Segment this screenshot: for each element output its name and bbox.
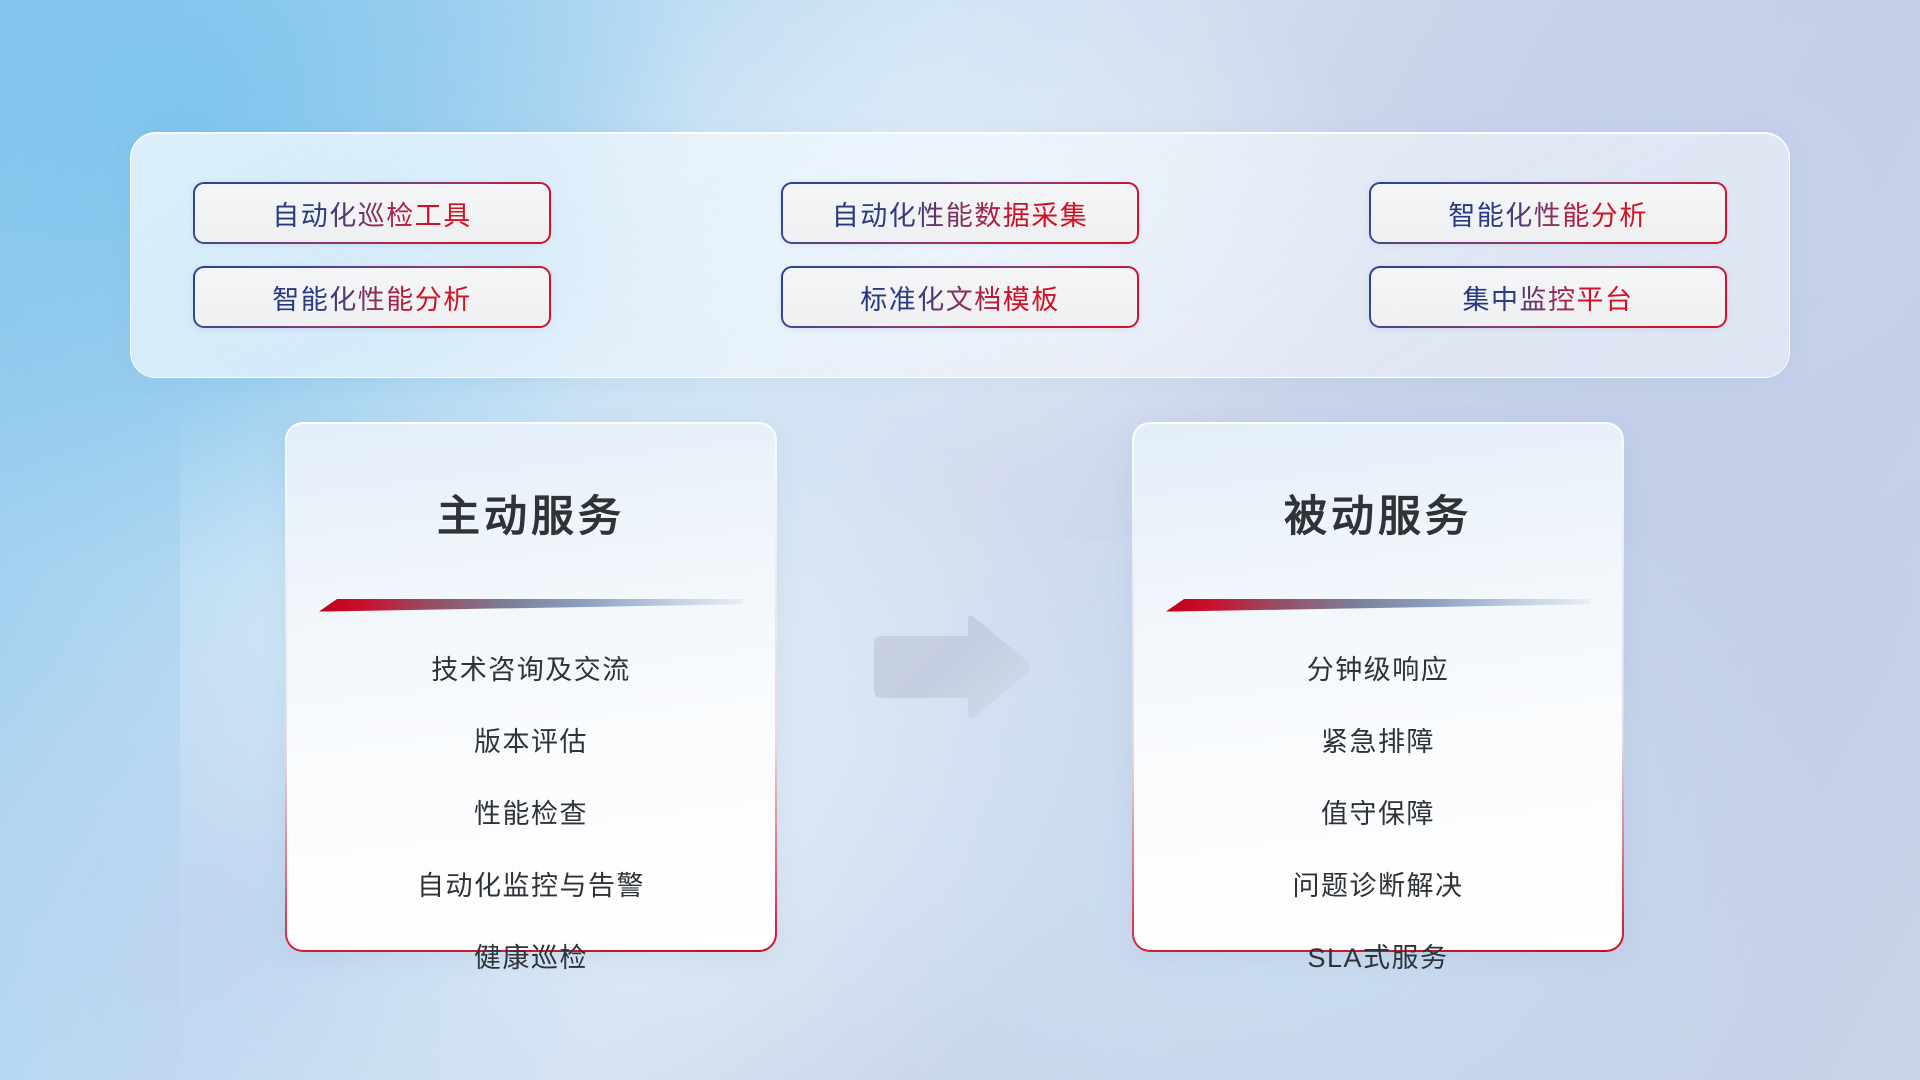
- list-item: 版本评估: [474, 706, 588, 778]
- list-item: 健康巡检: [474, 922, 588, 994]
- list-item: 性能检查: [474, 778, 588, 850]
- list-item: 问题诊断解决: [1293, 850, 1464, 922]
- capability-pill-label: 智能化性能分析: [272, 278, 472, 317]
- proactive-service-list: 技术咨询及交流 版本评估 性能检查 自动化监控与告警 健康巡检: [287, 634, 775, 994]
- capability-pill-label: 集中监控平台: [1463, 278, 1634, 317]
- list-item: SLA式服务: [1307, 922, 1448, 994]
- capability-pill-automated-inspection-tool[interactable]: 自动化巡检工具: [193, 182, 551, 244]
- capability-pill-automated-performance-data-collection[interactable]: 自动化性能数据采集: [781, 182, 1139, 244]
- arrow-right-icon: [864, 612, 1034, 722]
- reactive-service-list: 分钟级响应 紧急排障 值守保障 问题诊断解决 SLA式服务: [1134, 634, 1622, 994]
- reactive-title-underline: [1166, 599, 1590, 612]
- capability-row-1: 自动化巡检工具 自动化性能数据采集 智能化性能分析: [193, 182, 1727, 244]
- capability-pill-label: 自动化性能数据采集: [832, 194, 1089, 233]
- list-item: 值守保障: [1321, 778, 1435, 850]
- capability-pill-label: 自动化巡检工具: [272, 194, 472, 233]
- list-item: 分钟级响应: [1307, 634, 1450, 706]
- pill-face: 智能化性能分析: [195, 268, 549, 326]
- reactive-card-title: 被动服务: [1284, 494, 1472, 541]
- proactive-service-card: 主动服务: [285, 422, 777, 952]
- pill-face: 集中监控平台: [1371, 268, 1725, 326]
- capability-pill-intelligent-performance-analysis-2[interactable]: 智能化性能分析: [193, 266, 551, 328]
- pill-face: 自动化巡检工具: [195, 184, 549, 242]
- list-item: 紧急排障: [1321, 706, 1435, 778]
- pill-face: 标准化文档模板: [783, 268, 1137, 326]
- card-face: 主动服务: [287, 424, 775, 950]
- capability-panel: 自动化巡检工具 自动化性能数据采集 智能化性能分析 智能化性能分析: [130, 132, 1790, 378]
- proactive-card-title: 主动服务: [437, 494, 625, 541]
- reactive-service-card: 被动服务: [1132, 422, 1624, 952]
- capability-row-2: 智能化性能分析 标准化文档模板 集中监控平台: [193, 266, 1727, 328]
- card-face: 被动服务: [1134, 424, 1622, 950]
- capability-pill-label: 智能化性能分析: [1448, 194, 1648, 233]
- capability-pill-centralized-monitoring-platform[interactable]: 集中监控平台: [1369, 266, 1727, 328]
- list-item: 自动化监控与告警: [417, 850, 645, 922]
- list-item: 技术咨询及交流: [431, 634, 631, 706]
- slide-canvas: 自动化巡检工具 自动化性能数据采集 智能化性能分析 智能化性能分析: [0, 0, 1920, 1080]
- pill-face: 智能化性能分析: [1371, 184, 1725, 242]
- capability-pill-intelligent-performance-analysis[interactable]: 智能化性能分析: [1369, 182, 1727, 244]
- pill-face: 自动化性能数据采集: [783, 184, 1137, 242]
- capability-pill-standardized-document-template[interactable]: 标准化文档模板: [781, 266, 1139, 328]
- capability-pill-label: 标准化文档模板: [860, 278, 1060, 317]
- proactive-title-underline: [319, 599, 743, 612]
